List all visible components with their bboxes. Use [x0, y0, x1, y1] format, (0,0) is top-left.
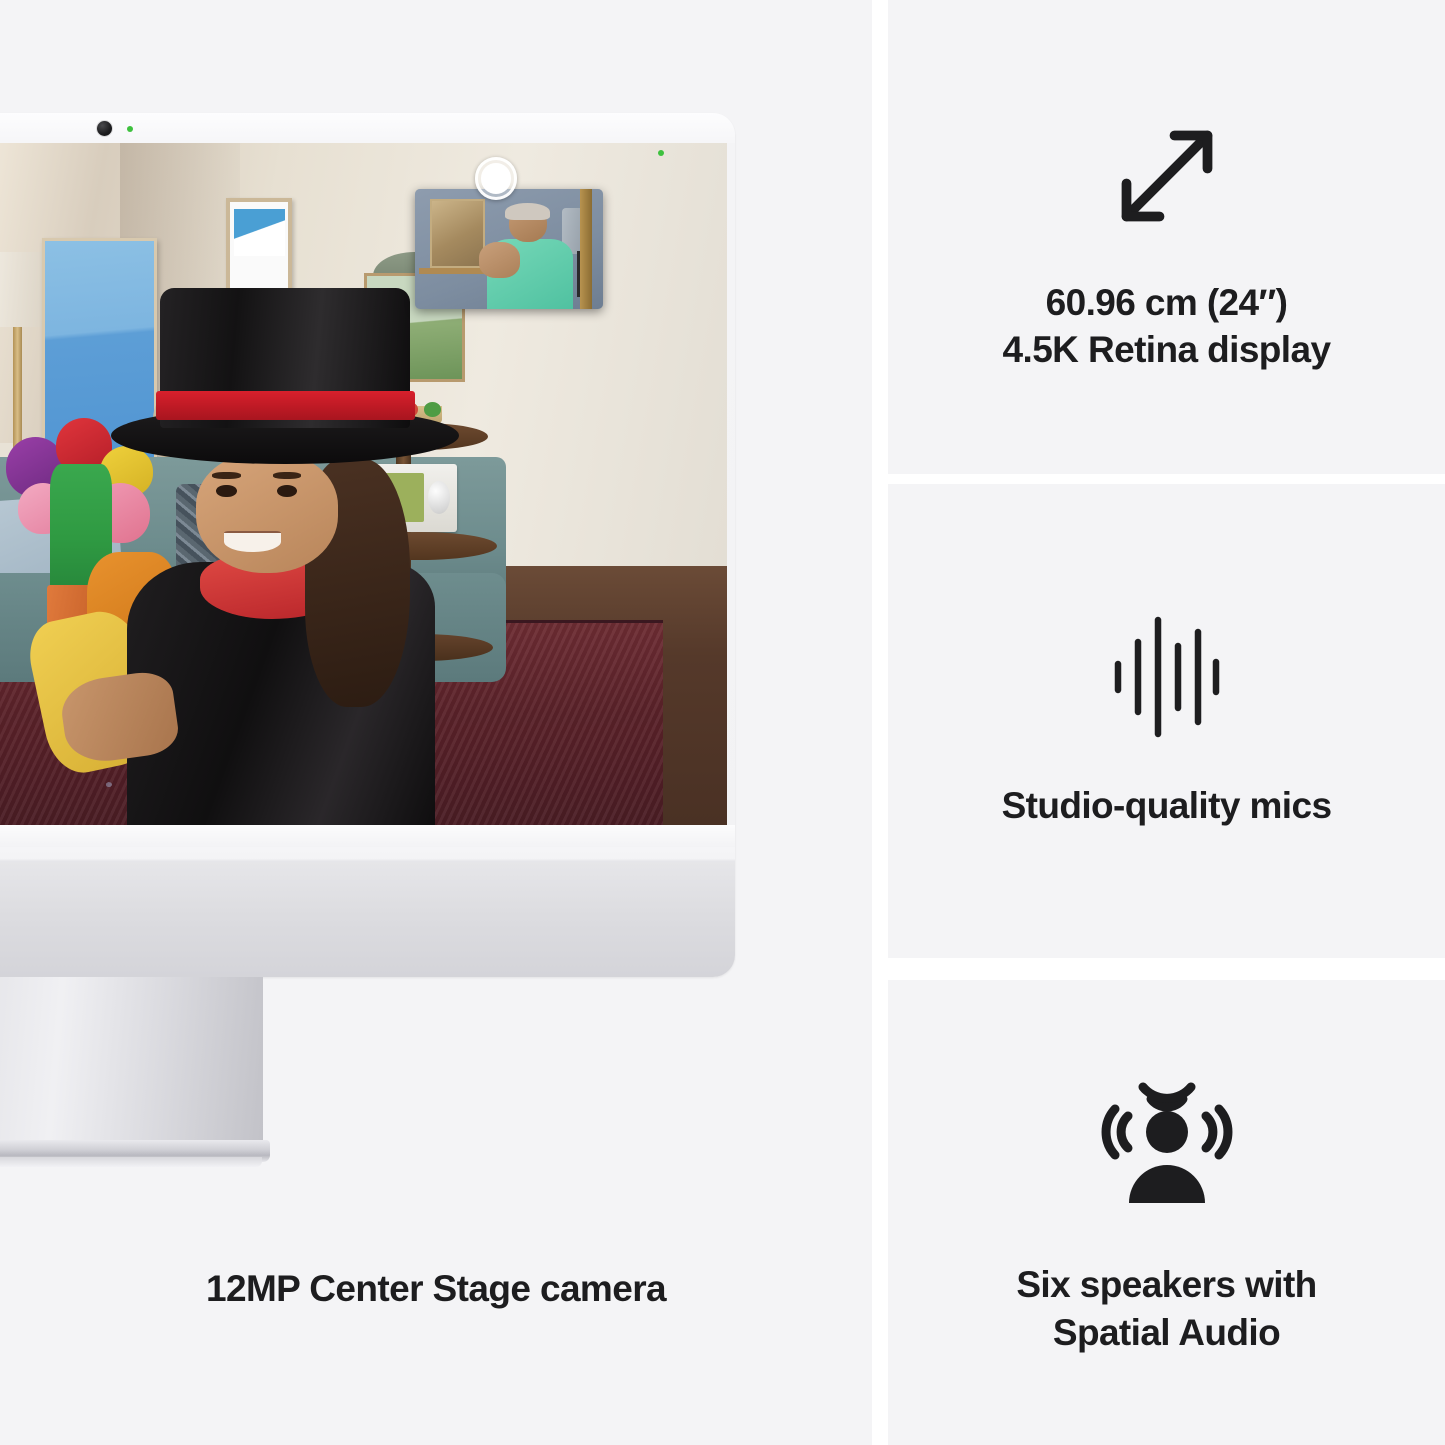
room-scene — [0, 143, 727, 825]
framed-artwork-top — [226, 198, 292, 300]
girl-eyebrow — [273, 472, 301, 479]
girl-smile — [224, 531, 281, 552]
girl-eyebrow — [212, 472, 240, 479]
diagonal-arrows-expand-icon — [1092, 101, 1242, 251]
facetime-control-button[interactable] — [475, 157, 517, 199]
pip-participant-hands — [479, 242, 520, 278]
imac-chin-highlight — [0, 825, 735, 847]
camera-in-use-led-icon — [127, 126, 133, 132]
facetime-recording-indicator-icon — [658, 150, 664, 156]
feature-card-display-label: 60.96 cm (24″) 4.5K Retina display — [1003, 279, 1331, 374]
pip-frame-edge — [580, 189, 591, 308]
facetime-pip-tile[interactable] — [415, 189, 602, 308]
imac-stand-neck — [0, 977, 263, 1157]
imac-stand-foot-edge — [0, 1157, 262, 1167]
camera-feature-panel: 12MP Center Stage camera — [0, 0, 872, 1445]
facetime-video-scene — [0, 143, 727, 825]
feature-card-spatial-audio: Six speakers with Spatial Audio — [888, 980, 1445, 1445]
imac-chin — [0, 825, 735, 977]
feature-card-spatial-audio-label: Six speakers with Spatial Audio — [1016, 1261, 1316, 1356]
pip-participant-hair — [505, 203, 550, 221]
audio-waveform-icon — [1107, 612, 1227, 742]
spatial-audio-person-icon — [1097, 1069, 1237, 1219]
feature-card-mics: Studio-quality mics — [888, 484, 1445, 958]
top-hat-red-band — [156, 391, 415, 420]
floor-lamp-shade — [0, 252, 43, 327]
feature-grid-page: 12MP Center Stage camera 60.96 cm (24″) … — [0, 0, 1445, 1445]
center-stage-camera-icon — [97, 121, 112, 136]
pip-wall-art — [430, 199, 484, 268]
girl-magician — [111, 314, 515, 826]
feature-card-display: 60.96 cm (24″) 4.5K Retina display — [888, 0, 1445, 474]
imac-screen — [0, 143, 727, 825]
girl-eye — [277, 485, 297, 497]
facetime-control-button-inner — [481, 163, 511, 193]
feature-card-mics-label: Studio-quality mics — [1002, 782, 1332, 829]
imac-device — [0, 113, 735, 977]
girl-eye — [216, 485, 236, 497]
framed-artwork-top-image — [234, 209, 285, 256]
camera-feature-caption: 12MP Center Stage camera — [0, 1268, 872, 1310]
